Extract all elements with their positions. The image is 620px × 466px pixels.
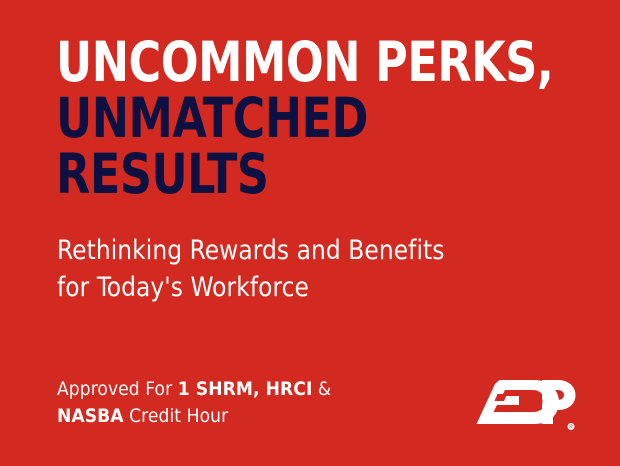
headline-line-1: UNCOMMON PERKS,: [56, 34, 542, 90]
credit-accreditors: 1 SHRM, HRCI: [178, 378, 313, 400]
headline-line-3: RESULTS: [56, 146, 542, 202]
registered-trademark-icon: R: [568, 423, 575, 431]
credit-ampersand: &: [312, 378, 331, 400]
credit-line-2: NASBA Credit Hour: [57, 403, 437, 430]
credit-prefix: Approved For: [57, 378, 178, 400]
svg-text:R: R: [569, 425, 573, 431]
adp-logo: R: [476, 377, 576, 431]
credit-line-1: Approved For 1 SHRM, HRCI &: [57, 376, 437, 403]
headline-line-2: UNMATCHED: [56, 90, 542, 146]
promo-card: UNCOMMON PERKS, UNMATCHED RESULTS Rethin…: [0, 0, 620, 466]
credit-block: Approved For 1 SHRM, HRCI & NASBA Credit…: [57, 376, 437, 430]
headline-block: UNCOMMON PERKS, UNMATCHED RESULTS: [56, 34, 596, 202]
subtitle-line-2: for Today's Workforce: [57, 269, 556, 306]
credit-nasba: NASBA: [57, 405, 124, 427]
subtitle-block: Rethinking Rewards and Benefits for Toda…: [57, 232, 577, 306]
subtitle-line-1: Rethinking Rewards and Benefits: [57, 232, 556, 269]
credit-hour-label: Credit Hour: [124, 405, 229, 427]
